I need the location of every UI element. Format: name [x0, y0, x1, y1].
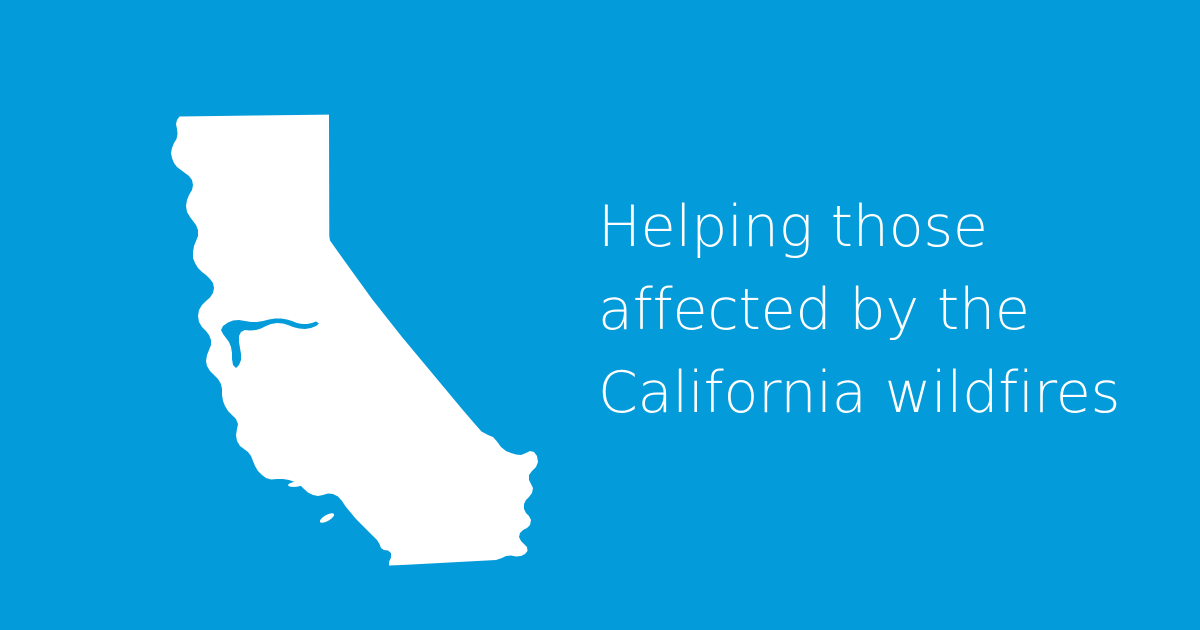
wildfire-relief-banner: Helping those affected by the California… [0, 0, 1200, 630]
headline-line-1: Helping those [598, 186, 1158, 269]
california-map [140, 96, 590, 566]
santa-barbara-island [384, 512, 391, 517]
headline-line-3: California wildfires [598, 352, 1158, 435]
headline: Helping those affected by the California… [598, 186, 1158, 435]
headline-line-2: affected by the [598, 269, 1158, 352]
san-nicolas-island [319, 511, 336, 524]
california-state-outline [171, 115, 538, 566]
